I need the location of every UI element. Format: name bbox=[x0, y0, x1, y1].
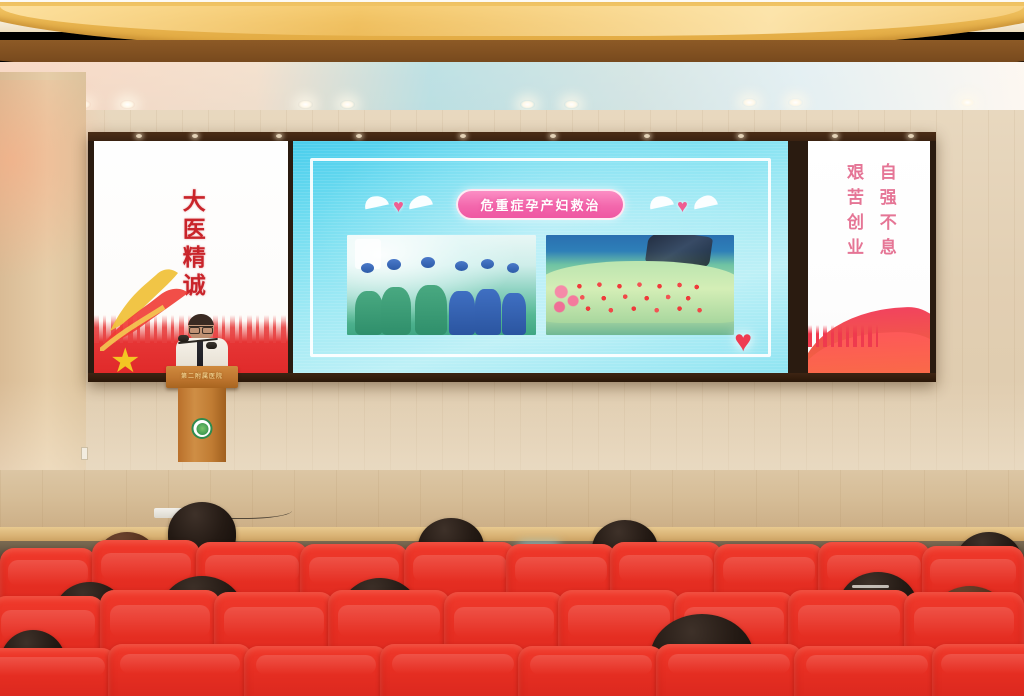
slide-border-frame: ♥ 危重症孕产妇救治 ♥ bbox=[310, 158, 771, 357]
recessed-downlight bbox=[742, 98, 757, 107]
slide-title-row: ♥ 危重症孕产妇救治 ♥ bbox=[313, 187, 768, 221]
auditorium-seat[interactable] bbox=[518, 646, 664, 696]
wall-socket bbox=[81, 447, 88, 460]
slide-photo-row bbox=[347, 235, 734, 335]
recessed-downlight bbox=[298, 100, 313, 109]
auditorium-seat[interactable] bbox=[0, 648, 116, 696]
slide-title: 危重症孕产妇救治 bbox=[456, 189, 624, 220]
winged-heart-icon: ♥ bbox=[364, 191, 432, 217]
recessed-downlight bbox=[788, 98, 803, 107]
heart-glyph: ♥ bbox=[677, 197, 688, 215]
auditorium-seat[interactable] bbox=[656, 644, 802, 696]
heart-glyph: ♥ bbox=[393, 197, 404, 215]
podium: 第二附属医院 bbox=[166, 366, 238, 462]
slide-heart-decoration: ♥ bbox=[734, 327, 752, 357]
audience-seating bbox=[0, 520, 1024, 696]
slide-photo-surgical-clamps bbox=[546, 235, 735, 335]
podium-nameplate: 第二附属医院 bbox=[166, 371, 238, 380]
podium-top-panel: 第二附属医院 bbox=[166, 366, 238, 388]
auditorium-seat[interactable] bbox=[244, 646, 388, 696]
recessed-downlight bbox=[340, 100, 355, 109]
banner-right: 自强不息 艰苦创业 bbox=[808, 141, 930, 373]
recessed-downlight bbox=[960, 98, 975, 107]
podium-body bbox=[178, 388, 226, 462]
auditorium-seat[interactable] bbox=[932, 644, 1024, 696]
recessed-downlight bbox=[520, 100, 535, 109]
auditorium-seat[interactable] bbox=[380, 644, 526, 696]
led-screen[interactable]: ♥ 危重症孕产妇救治 ♥ bbox=[293, 141, 788, 373]
auditorium-scene: 大医精诚 ★ ♥ 危重症孕产妇救治 bbox=[0, 0, 1024, 696]
banner-right-motto-primary: 自强不息 bbox=[876, 163, 895, 263]
attendee-hairclip bbox=[852, 585, 889, 588]
hospital-emblem-icon bbox=[192, 418, 213, 439]
ceiling-screen-reflection bbox=[0, 62, 1024, 114]
auditorium-seat[interactable] bbox=[108, 644, 252, 696]
slide-photo-operating-room bbox=[347, 235, 536, 335]
banner-right-mottos: 自强不息 艰苦创业 bbox=[843, 163, 894, 263]
recessed-downlight bbox=[564, 100, 579, 109]
gooseneck-microphone bbox=[178, 330, 218, 352]
banner-right-city-silhouette bbox=[808, 325, 878, 347]
recessed-downlight bbox=[120, 100, 135, 109]
display-top-trim bbox=[88, 132, 936, 141]
auditorium-seat[interactable] bbox=[794, 646, 940, 696]
winged-heart-icon: ♥ bbox=[649, 191, 717, 217]
banner-right-motto-secondary: 艰苦创业 bbox=[843, 163, 862, 263]
